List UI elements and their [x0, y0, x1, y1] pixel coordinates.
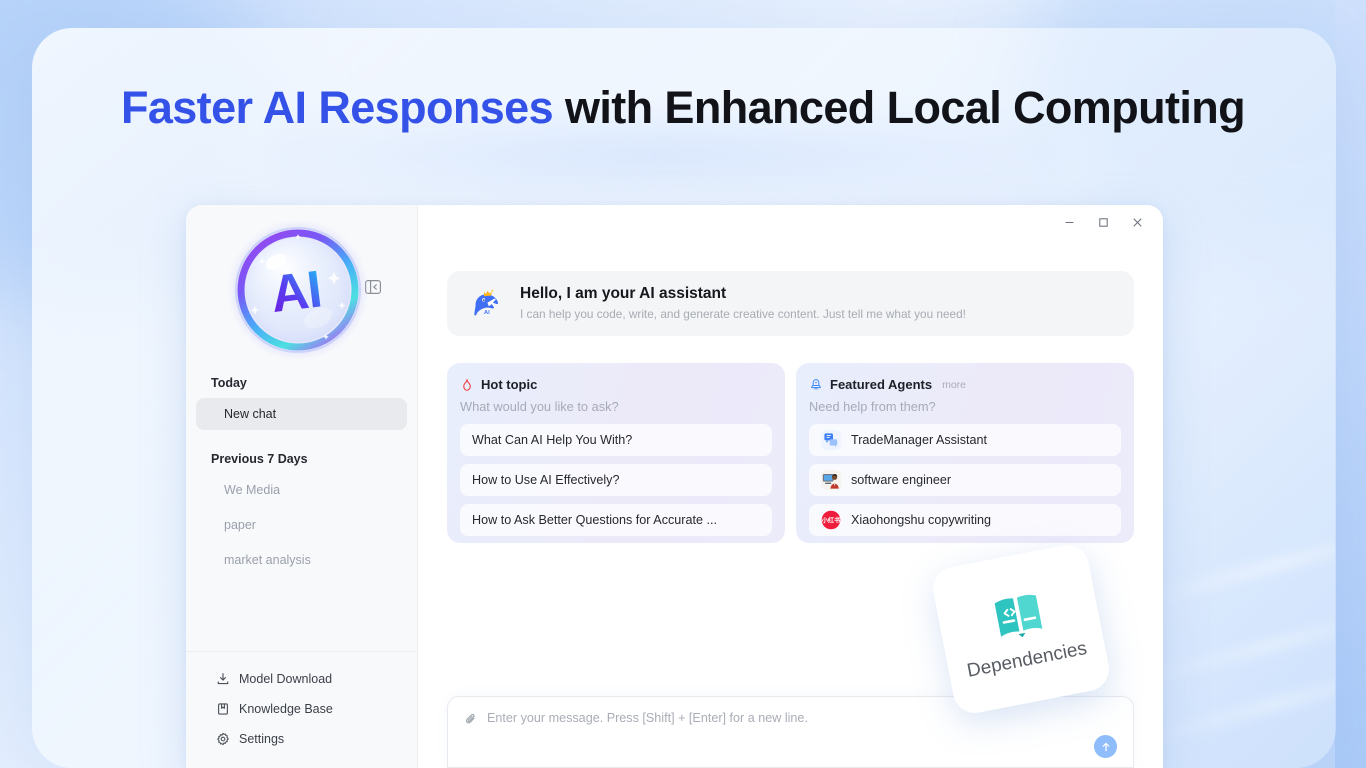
sidebar-footer-label: Model Download: [239, 672, 332, 686]
card-title: Hot topic: [481, 377, 537, 392]
list-item[interactable]: What Can AI Help You With?: [460, 424, 772, 456]
hot-topic-list: What Can AI Help You With? How to Use AI…: [460, 424, 772, 536]
featured-agents-card: Featured Agents more Need help from them…: [796, 363, 1134, 543]
whale-crown-avatar: AI: [467, 285, 505, 323]
featured-agents-list: TradeManager Assistant: [809, 424, 1121, 536]
flame-icon: [460, 378, 474, 392]
book-icon: [216, 702, 230, 716]
card-title: Featured Agents: [830, 377, 932, 392]
list-item[interactable]: How to Ask Better Questions for Accurate…: [460, 504, 772, 536]
list-item-label: How to Ask Better Questions for Accurate…: [472, 513, 717, 527]
dependencies-card[interactable]: Dependencies: [929, 541, 1112, 716]
gear-icon: [216, 732, 230, 746]
poster-stage: Faster AI Responses with Enhanced Local …: [0, 0, 1366, 768]
message-composer[interactable]: Enter your message. Press [Shift] + [Ent…: [447, 696, 1134, 768]
card-more-link[interactable]: more: [942, 379, 966, 392]
card-subtitle: Need help from them?: [809, 399, 1121, 414]
sidebar-history: Today New chat Previous 7 Days We Media …: [186, 368, 417, 651]
headline-rest: with Enhanced Local Computing: [553, 82, 1245, 133]
list-item[interactable]: 小红书 Xiaohongshu copywriting: [809, 504, 1121, 536]
assistant-greeting-banner: AI Hello, I am your AI assistant I can h…: [447, 271, 1134, 336]
sidebar-item-model-download[interactable]: Model Download: [196, 664, 407, 694]
svg-text:小红书: 小红书: [821, 516, 841, 524]
sidebar-item-knowledge-base[interactable]: Knowledge Base: [196, 694, 407, 724]
maximize-button[interactable]: [1087, 209, 1119, 235]
code-book-icon: [985, 582, 1051, 648]
minimize-button[interactable]: [1053, 209, 1085, 235]
sidebar-item-label: New chat: [224, 407, 276, 421]
sidebar-item-new-chat[interactable]: New chat: [196, 398, 407, 430]
composer-row: Enter your message. Press [Shift] + [Ent…: [464, 711, 1117, 726]
sidebar-item-paper[interactable]: paper: [196, 509, 407, 541]
sidebar-footer-label: Settings: [239, 732, 284, 746]
sidebar-group-title-today: Today: [196, 368, 407, 398]
sidebar-item-settings[interactable]: Settings: [196, 724, 407, 754]
headline-accent: Faster AI Responses: [121, 82, 553, 133]
paperclip-icon[interactable]: [464, 712, 478, 726]
list-item[interactable]: software engineer: [809, 464, 1121, 496]
list-item-label: What Can AI Help You With?: [472, 433, 632, 447]
sidebar: Today New chat Previous 7 Days We Media …: [186, 205, 418, 768]
featured-agents-header: Featured Agents more: [809, 377, 1121, 392]
greeting-title: Hello, I am your AI assistant: [520, 284, 966, 305]
sidebar-item-label: We Media: [224, 483, 280, 497]
trademanager-avatar: [821, 430, 841, 450]
list-item-label: TradeManager Assistant: [851, 433, 987, 447]
sidebar-item-label: market analysis: [224, 553, 311, 567]
agent-icon: [809, 378, 823, 392]
xiaohongshu-avatar: 小红书: [821, 510, 841, 530]
engineer-avatar: [821, 470, 841, 490]
send-button[interactable]: [1094, 735, 1117, 758]
sidebar-footer-label: Knowledge Base: [239, 702, 333, 716]
download-icon: [216, 672, 230, 686]
hot-topic-card: Hot topic What would you like to ask? Wh…: [447, 363, 785, 543]
sidebar-footer: Model Download Knowledge Base: [186, 651, 417, 768]
sidebar-toggle-icon[interactable]: [363, 277, 383, 297]
message-input-placeholder[interactable]: Enter your message. Press [Shift] + [Ent…: [487, 711, 808, 725]
card-subtitle: What would you like to ask?: [460, 399, 772, 414]
page-title: Faster AI Responses with Enhanced Local …: [0, 82, 1366, 134]
close-button[interactable]: [1121, 209, 1153, 235]
list-item-label: Xiaohongshu copywriting: [851, 513, 991, 527]
sidebar-item-market-analysis[interactable]: market analysis: [196, 544, 407, 576]
list-item[interactable]: TradeManager Assistant: [809, 424, 1121, 456]
greeting-subtitle: I can help you code, write, and generate…: [520, 306, 966, 324]
list-item-label: software engineer: [851, 473, 951, 487]
sidebar-item-label: paper: [224, 518, 256, 532]
suggestion-cards: Hot topic What would you like to ask? Wh…: [447, 363, 1134, 543]
hot-topic-header: Hot topic: [460, 377, 772, 392]
list-item[interactable]: How to Use AI Effectively?: [460, 464, 772, 496]
svg-text:AI: AI: [484, 309, 490, 315]
sidebar-group-title-previous-7-days: Previous 7 Days: [196, 444, 407, 474]
dependencies-label: Dependencies: [965, 638, 1088, 683]
sidebar-item-we-media[interactable]: We Media: [196, 474, 407, 506]
list-item-label: How to Use AI Effectively?: [472, 473, 619, 487]
titlebar: [418, 205, 1163, 239]
